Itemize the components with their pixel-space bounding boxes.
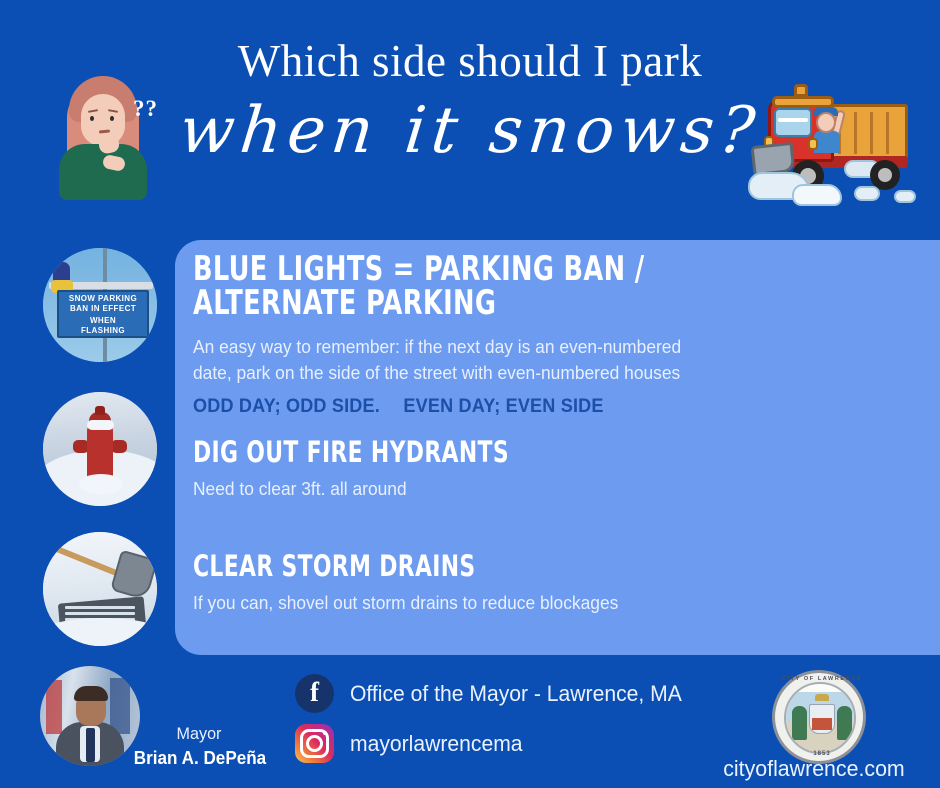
mayor-title-label: Mayor	[141, 724, 257, 744]
facebook-link[interactable]: f Office of the Mayor - Lawrence, MA	[295, 674, 696, 713]
section-heading: BLUE LIGHTS = PARKING BAN / ALTERNATE PA…	[193, 252, 806, 320]
section-body-line2: date, park on the side of the street wit…	[193, 360, 879, 386]
city-seal-icon: CITY OF LAWRENCE 1853	[772, 670, 866, 764]
section-fire-hydrants: DIG OUT FIRE HYDRANTS Need to clear 3ft.…	[193, 438, 923, 502]
mayor-name-label: Brian A. DePeña	[116, 748, 283, 769]
sign-text-bottom: WHEN FLASHING	[57, 316, 149, 336]
snow-covered-fire-hydrant-photo	[43, 392, 157, 506]
odd-even-rule-text: ODD DAY; ODD SIDE. EVEN DAY; EVEN SIDE	[193, 396, 887, 418]
section-body-line1: An easy way to remember: if the next day…	[193, 334, 879, 360]
sign-text-top: SNOW PARKING BAN IN EFFECT	[57, 294, 149, 314]
section-heading: CLEAR STORM DRAINS	[193, 552, 806, 581]
section-body: If you can, shovel out storm drains to r…	[193, 590, 879, 616]
section-body: An easy way to remember: if the next day…	[193, 334, 879, 387]
section-parking-ban: BLUE LIGHTS = PARKING BAN / ALTERNATE PA…	[193, 252, 923, 418]
header-banner: ?? Which side should I park when it snow…	[0, 0, 940, 240]
instagram-link[interactable]: mayorlawrencema	[295, 724, 530, 763]
facebook-icon-glyph: f	[295, 674, 334, 713]
snow-parking-ban-sign-photo: SNOW PARKING BAN IN EFFECT WHEN FLASHING	[43, 248, 157, 362]
section-body: Need to clear 3ft. all around	[193, 476, 879, 502]
instagram-icon[interactable]	[295, 724, 334, 763]
section-heading: DIG OUT FIRE HYDRANTS	[193, 438, 806, 467]
website-label: cityoflawrence.com	[692, 756, 936, 782]
shovel-clearing-storm-drain-photo	[43, 532, 157, 646]
facebook-icon[interactable]: f	[295, 674, 334, 713]
facebook-handle-label: Office of the Mayor - Lawrence, MA	[350, 681, 682, 707]
snowplow-truck-icon	[750, 78, 930, 218]
section-storm-drains: CLEAR STORM DRAINS If you can, shovel ou…	[193, 552, 923, 616]
info-panel: BLUE LIGHTS = PARKING BAN / ALTERNATE PA…	[175, 240, 940, 655]
instagram-handle-label: mayorlawrencema	[350, 731, 523, 757]
